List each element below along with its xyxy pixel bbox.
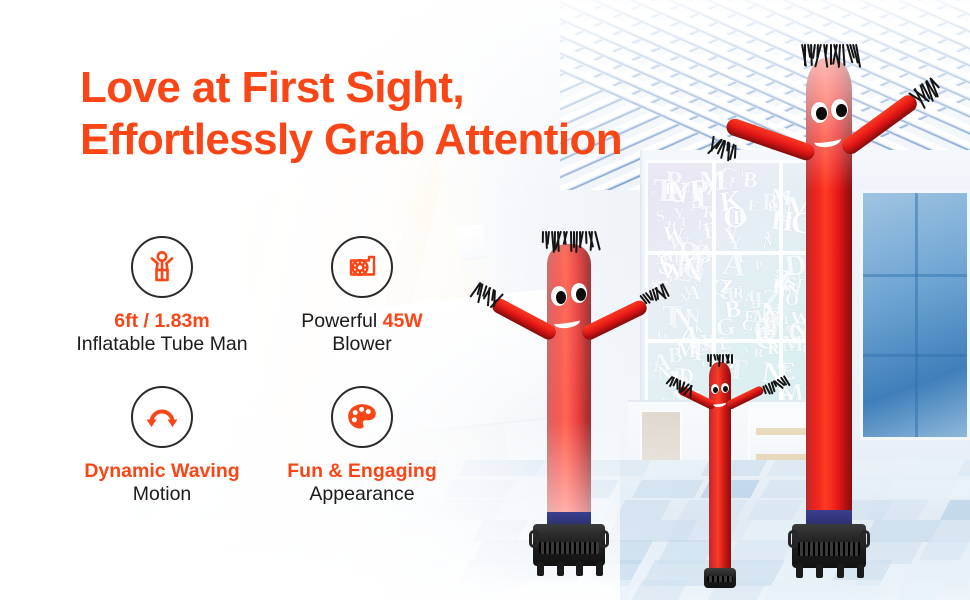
feature-plain: Motion xyxy=(133,483,192,505)
feature-plain: Blower xyxy=(332,333,392,355)
feature-text: Fun & Engaging Appearance xyxy=(262,460,462,506)
headline-line-2: Effortlessly Grab Attention xyxy=(80,114,680,166)
feature-highlight: Fun & Engaging xyxy=(287,460,436,482)
feature-highlight: Dynamic Waving xyxy=(84,460,239,482)
feature-text: Powerful 45W Blower xyxy=(262,310,462,356)
blower-unit xyxy=(704,568,736,588)
feature-item-size: 6ft / 1.83m Inflatable Tube Man xyxy=(62,236,262,386)
feature-plain: Appearance xyxy=(309,483,414,505)
feature-plain: Powerful xyxy=(301,310,382,332)
paint-palette-icon xyxy=(331,386,393,448)
waving-arrows-icon xyxy=(131,386,193,448)
feature-plain: Inflatable Tube Man xyxy=(76,333,247,355)
product-banner: DRUSFXYHCNDPSJTICAKXTMRLDPTCXMWWZZTWLVEA… xyxy=(0,0,970,600)
page-title: Love at First Sight, Effortlessly Grab A… xyxy=(80,62,680,167)
feature-item-blower: Powerful 45W Blower xyxy=(262,236,462,386)
headline-line-1: Love at First Sight, xyxy=(80,63,464,112)
blower-unit xyxy=(792,524,866,568)
feature-highlight: 6ft / 1.83m xyxy=(114,310,209,332)
feature-text: Dynamic Waving Motion xyxy=(62,460,262,506)
content-column: Love at First Sight, Effortlessly Grab A… xyxy=(0,0,520,600)
feature-item-motion: Dynamic Waving Motion xyxy=(62,386,262,536)
feature-highlight: 45W xyxy=(383,310,423,332)
blower-fan-icon xyxy=(331,236,393,298)
blower-unit xyxy=(533,524,605,566)
feature-text: 6ft / 1.83m Inflatable Tube Man xyxy=(62,310,262,356)
tube-man-icon xyxy=(131,236,193,298)
feature-list: 6ft / 1.83m Inflatable Tube Man Pow xyxy=(62,236,472,536)
feature-item-appearance: Fun & Engaging Appearance xyxy=(262,386,462,536)
